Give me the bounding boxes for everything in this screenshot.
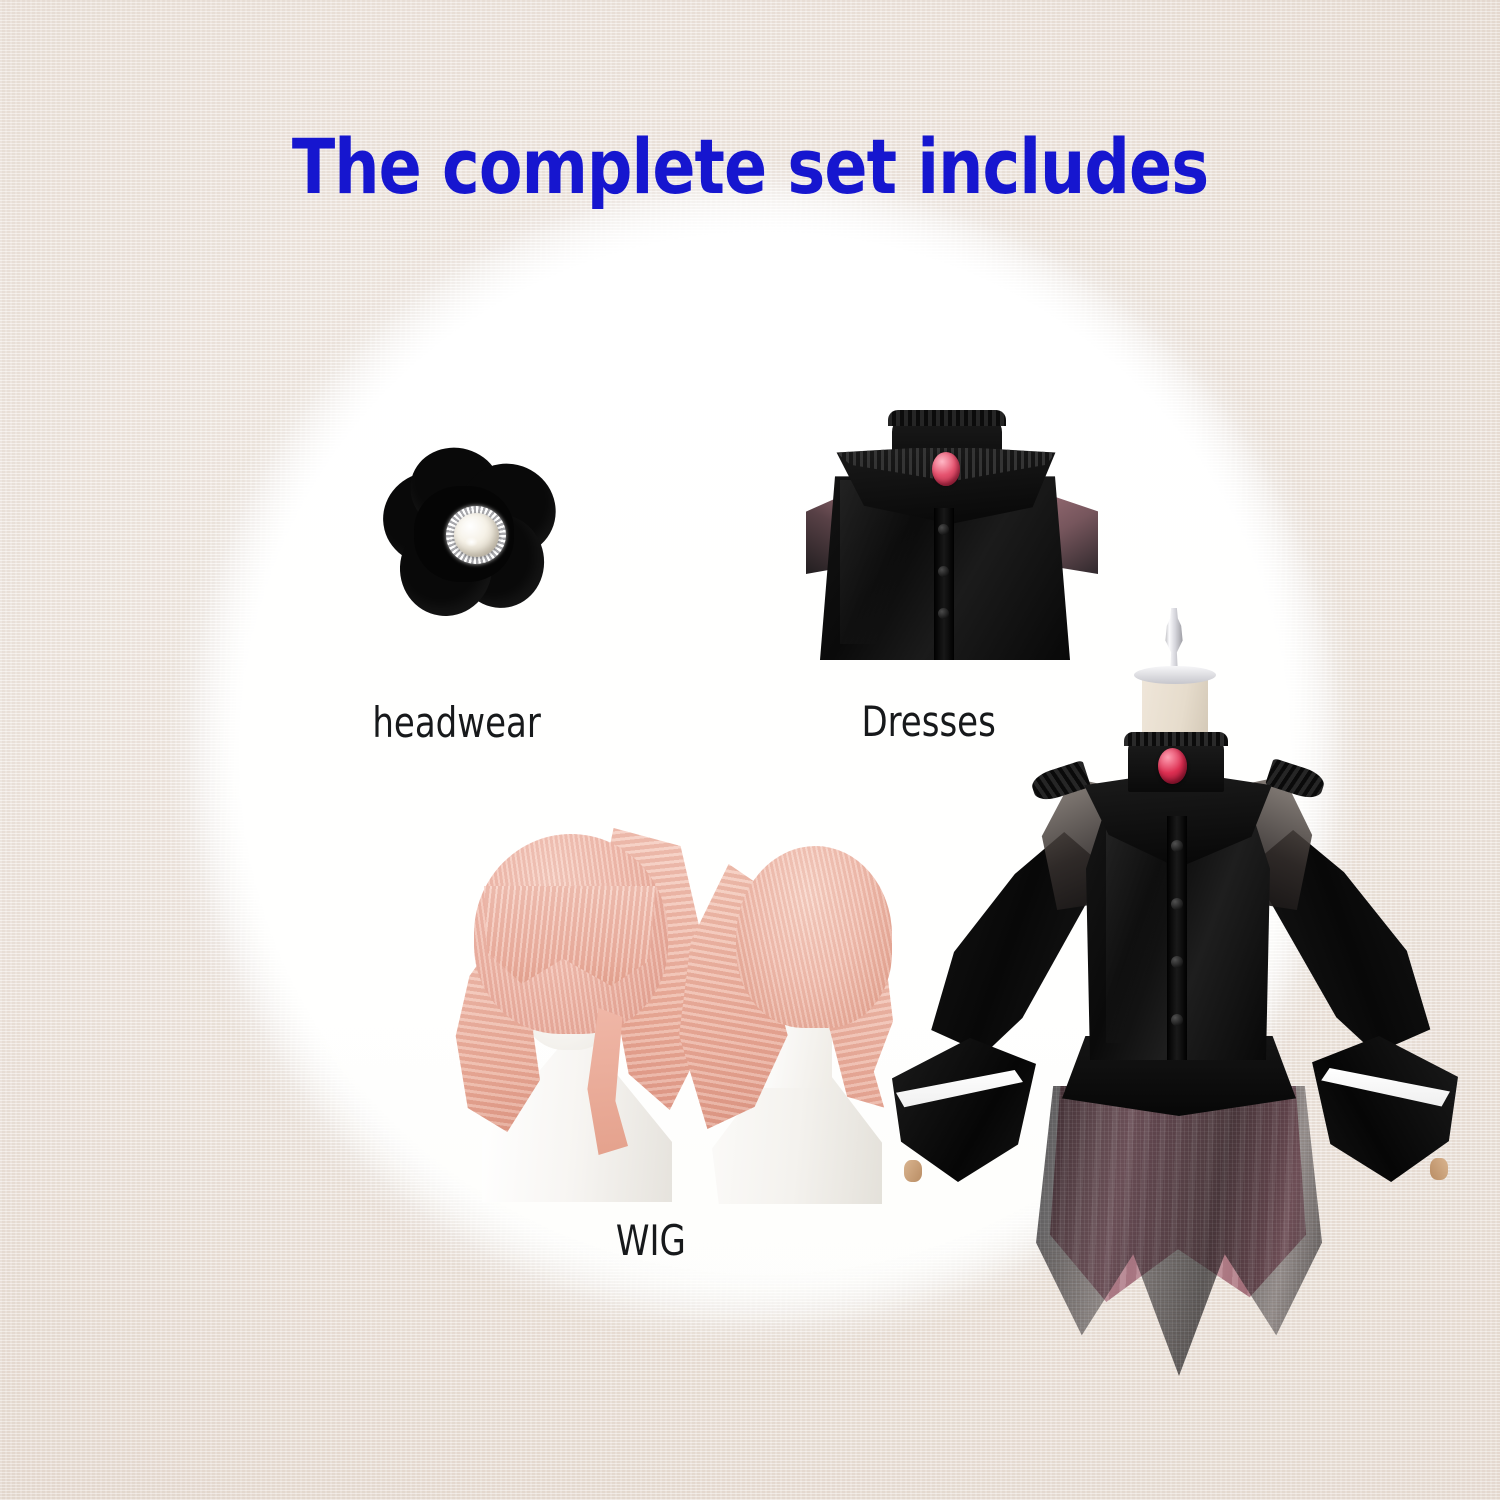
wig-back-icon (672, 834, 896, 1200)
dress-button (1171, 956, 1183, 968)
product-image-canvas: The complete set includes headwear Dress… (0, 0, 1500, 1500)
dress-sheer-overlay-skirt (1036, 1086, 1322, 1376)
dress-collar-ruffle (1124, 732, 1228, 746)
dress-button (1171, 1014, 1183, 1026)
headwear-flower-icon (378, 448, 558, 618)
wig-front-icon (452, 812, 700, 1202)
cuff-inner-trim-right (1430, 1158, 1448, 1180)
pearl-icon (454, 513, 499, 557)
full-outfit-on-mannequin (890, 600, 1470, 1370)
wig-cap (736, 846, 892, 1028)
dress-button (1171, 840, 1183, 852)
label-headwear: headwear (372, 698, 540, 747)
label-wig: WIG (616, 1216, 686, 1265)
cuff-inner-trim-left (904, 1160, 922, 1182)
page-title: The complete set includes (53, 122, 1448, 211)
gem-brooch-icon (1158, 748, 1187, 784)
blouse-collar-ruffle (888, 410, 1006, 426)
gem-brooch-icon (932, 452, 960, 486)
blouse-button (938, 524, 949, 535)
blouse-button (938, 566, 949, 577)
dress-button (1171, 898, 1183, 910)
